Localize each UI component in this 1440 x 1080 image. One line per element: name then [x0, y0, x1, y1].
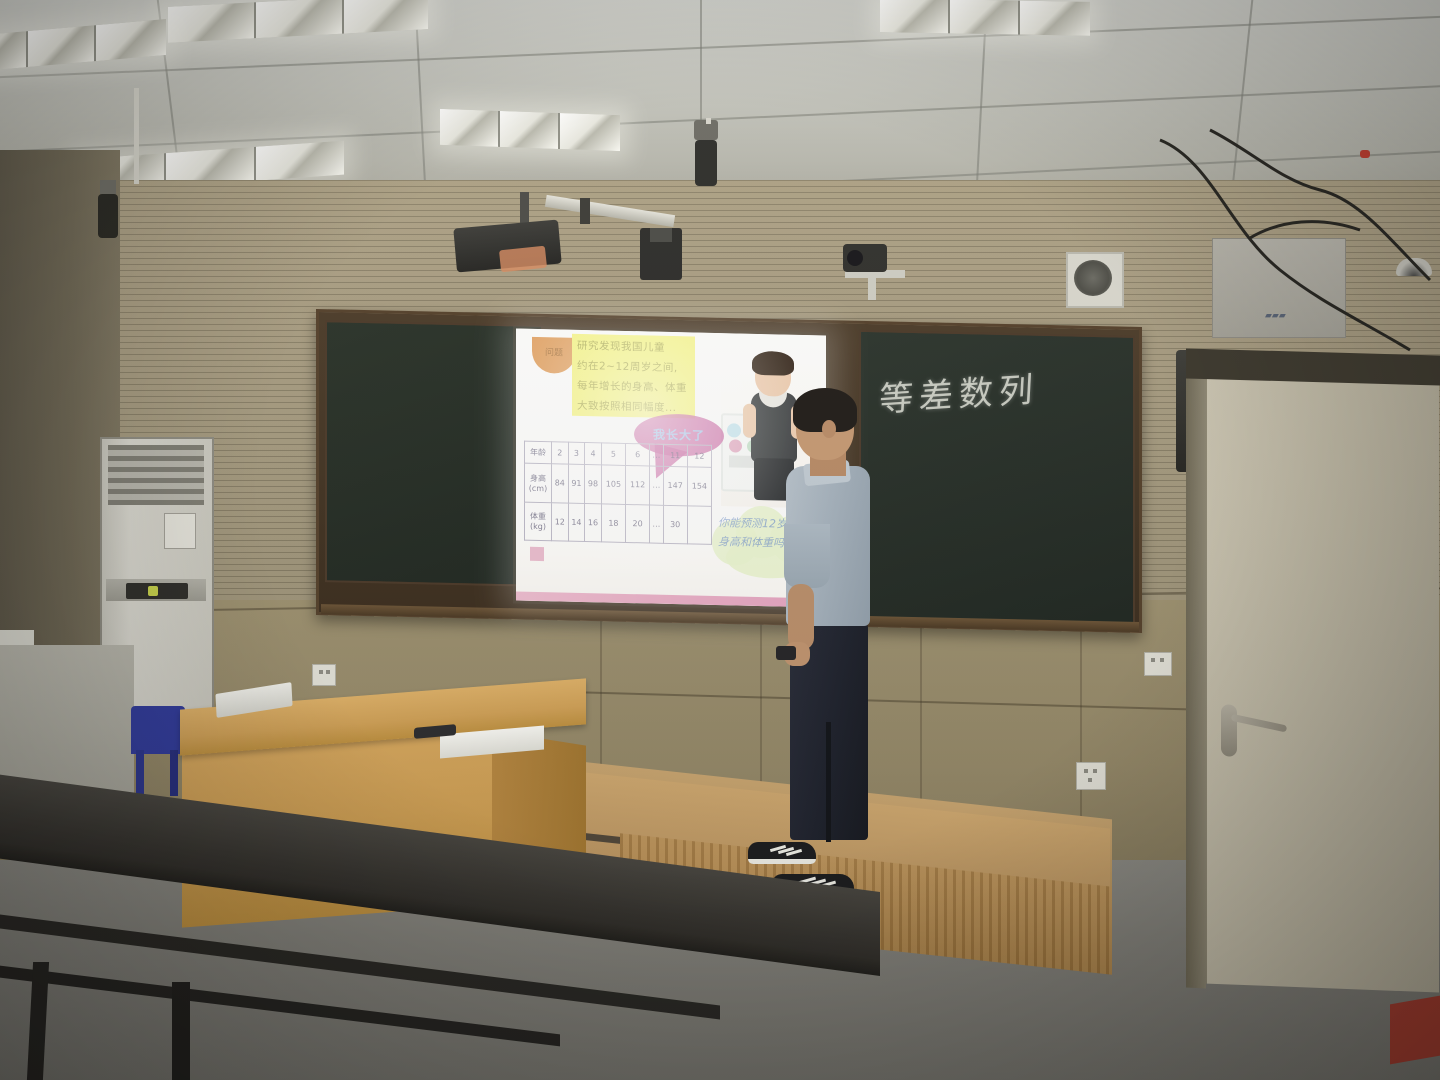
table-cell: 147 — [663, 466, 687, 505]
toy-ball — [727, 423, 741, 437]
teacher-shoe-left — [748, 842, 816, 864]
table-row: 身高 (cm) 84 91 98 105 112 … 147 154 — [525, 463, 712, 506]
speaker-bracket — [650, 228, 672, 242]
projector-mount-arm — [520, 192, 529, 224]
chalkboard-text: 等差数列 — [878, 357, 1110, 421]
table-cell: 20 — [626, 504, 650, 543]
table-cell: 30 — [663, 505, 687, 544]
wall-seam — [920, 600, 922, 810]
table-cell — [687, 505, 711, 544]
ceiling-light-fixture — [440, 109, 620, 151]
table-cell: 154 — [687, 467, 711, 506]
teacher-sleeve — [784, 524, 830, 588]
recording-camera — [843, 244, 887, 272]
toddler-hair — [752, 351, 794, 376]
table-cell: 12 — [687, 445, 711, 468]
table-cell: 18 — [601, 503, 625, 542]
ac-louvers — [108, 445, 204, 505]
table-cell: 3 — [568, 442, 585, 464]
toy-ball — [729, 439, 742, 452]
floor-mat — [1390, 996, 1440, 1065]
slide-data-table: 年龄 2 3 4 5 6 … 11 12 身高 (cm) 84 91 — [524, 441, 712, 545]
table-cell: 14 — [568, 503, 585, 542]
table-row: 体重 (kg) 12 14 16 18 20 … 30 — [525, 502, 712, 545]
table-cell: … — [650, 444, 663, 466]
hanging-speaker — [695, 140, 717, 186]
stool-leg — [170, 750, 178, 796]
teacher — [760, 392, 900, 902]
toddler-arm-left — [743, 404, 756, 438]
projector-bracket — [580, 198, 590, 224]
sliding-chalkboard-panel[interactable] — [325, 320, 543, 587]
ceiling-light-fixture — [880, 0, 1090, 36]
ceiling-light-fixture — [168, 0, 428, 43]
table-cell: 16 — [585, 503, 602, 542]
door-frame — [1186, 371, 1206, 988]
table-cell: … — [650, 505, 663, 544]
blue-plastic-stool[interactable] — [131, 706, 185, 754]
teacher-ear — [822, 420, 836, 438]
door-lock-plate — [1221, 704, 1237, 757]
slide-orange-label: 问题 — [532, 337, 576, 359]
table-cell: 12 — [552, 502, 569, 541]
teacher-leg-seam — [826, 722, 831, 842]
chalkboard-writing-panel[interactable]: 等差数列 — [859, 330, 1135, 628]
presenter-remote[interactable] — [776, 646, 796, 660]
speaker-hanging-rod — [706, 118, 711, 124]
table-cell: 年龄 — [525, 441, 552, 464]
teacher-arm — [788, 584, 814, 650]
table-leg — [172, 982, 190, 1080]
table-cell: 11 — [663, 444, 687, 467]
slide-marker — [530, 547, 544, 561]
slide-orange-tab: 问题 — [532, 337, 576, 374]
table-cell: 91 — [568, 464, 585, 503]
table-cell: 105 — [601, 465, 625, 504]
wall-socket[interactable] — [1144, 652, 1172, 676]
table-cell: 2 — [552, 442, 569, 464]
classroom-door[interactable] — [1204, 373, 1439, 992]
table-cell: 84 — [552, 464, 569, 503]
table-cell: 身高 (cm) — [525, 463, 552, 502]
yellow-line-1: 研究发现我国儿童 — [572, 334, 695, 357]
speaker-bracket — [100, 180, 116, 194]
ac-label-panel — [164, 513, 196, 549]
door-handle[interactable] — [1231, 714, 1287, 733]
ac-power-led — [148, 586, 158, 596]
yellow-line-3: 每年增长的身高、体重 — [572, 374, 695, 397]
age-height-weight-table: 年龄 2 3 4 5 6 … 11 12 身高 (cm) 84 91 — [524, 441, 712, 545]
camera-post — [868, 278, 876, 300]
table-cell: 6 — [626, 443, 650, 466]
table-cell: 98 — [585, 465, 602, 504]
wall-socket[interactable] — [1076, 762, 1106, 790]
classroom-scene: ▰▰▰ 等差数列 问题 研究发现我国儿童 约在2~12周岁之间, 每年增长的身 — [0, 0, 1440, 1080]
ceiling-light-fixture — [0, 19, 166, 73]
table-cell: 5 — [601, 443, 625, 466]
ac-display-panel[interactable] — [126, 583, 188, 599]
speaker-hanging-rod — [134, 88, 139, 184]
hanging-speaker — [98, 194, 118, 238]
slide-yellow-textbox: 研究发现我国儿童 约在2~12周岁之间, 每年增长的身高、体重 大致按照相同幅度… — [572, 334, 695, 419]
table-cell: 112 — [626, 465, 650, 504]
table-cell: … — [650, 466, 663, 505]
table-cell: 4 — [585, 443, 602, 465]
fan-blades — [1074, 260, 1112, 296]
exhaust-fan — [1066, 252, 1124, 308]
table-cell: 体重 (kg) — [525, 502, 552, 541]
yellow-line-2: 约在2~12周岁之间, — [572, 354, 695, 377]
camera-lens — [847, 250, 863, 266]
wall-socket[interactable] — [312, 664, 336, 686]
